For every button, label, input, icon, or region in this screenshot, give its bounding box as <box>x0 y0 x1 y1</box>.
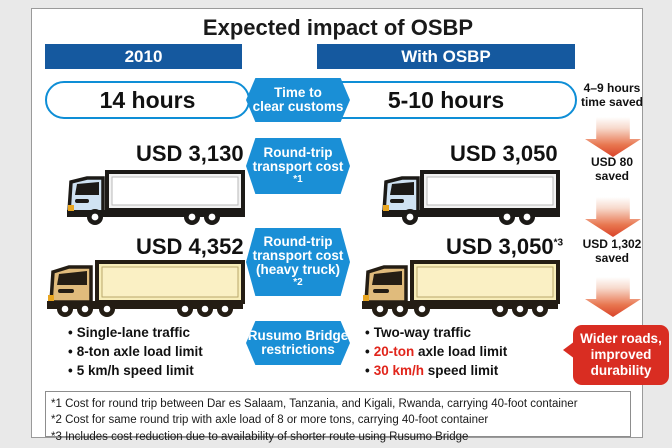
bridge-left-bullets: Single-lane traffic 8-ton axle load limi… <box>68 323 203 380</box>
transport-cost-right-value: USD 3,050 <box>450 141 558 167</box>
list-item-text: Two-way traffic <box>374 325 471 340</box>
row-label-heavy-truck-cost-footnote: *2 <box>293 277 302 289</box>
row-label-customs: Time to clear customs <box>246 78 350 122</box>
down-arrow-icon <box>585 117 641 157</box>
row-label-customs-line2: clear customs <box>253 100 344 114</box>
heavy-truck-cost-right-marker: *3 <box>554 238 563 249</box>
list-item-highlight: 30 km/h <box>374 363 424 378</box>
saving-customs-line1: 4–9 hours <box>568 81 656 95</box>
row-label-transport-cost-line1: Round-trip <box>264 146 333 160</box>
list-item: 20-ton axle load limit <box>365 342 507 361</box>
saving-transport-cost: USD 80 saved <box>568 155 656 184</box>
customs-right-value: 5-10 hours <box>315 81 577 119</box>
truck-icon <box>65 166 251 228</box>
list-item: Single-lane traffic <box>68 323 203 342</box>
column-header-with-osbp: With OSBP <box>317 44 575 69</box>
down-arrow-icon <box>585 197 641 237</box>
saving-customs: 4–9 hours time saved <box>568 81 656 110</box>
list-item: 30 km/h speed limit <box>365 361 507 380</box>
customs-left-value: 14 hours <box>45 81 250 119</box>
heavy-truck-cost-left-value: USD 4,352 <box>136 234 244 260</box>
footnote-3: *3 Includes cost reduction due to availa… <box>51 429 625 445</box>
heavy-truck-icon <box>360 258 566 320</box>
callout-line2: improved <box>591 347 652 363</box>
transport-cost-left-value: USD 3,130 <box>136 141 244 167</box>
row-label-bridge-line1: Rusumo Bridge <box>248 329 349 343</box>
row-label-heavy-truck-cost-line1: Round-trip <box>264 235 333 249</box>
row-label-bridge-restrictions: Rusumo Bridge restrictions <box>246 321 350 365</box>
callout-wider-roads: Wider roads, improved durability <box>573 325 669 385</box>
infographic-frame: Expected impact of OSBP 2010 With OSBP 1… <box>31 8 643 438</box>
row-label-transport-cost-footnote: *1 <box>293 174 302 186</box>
saving-heavy-truck-cost-line1: USD 1,302 <box>568 237 656 251</box>
saving-transport-cost-line1: USD 80 <box>568 155 656 169</box>
column-header-2010: 2010 <box>45 44 242 69</box>
row-label-heavy-truck-cost-line2: transport cost <box>253 249 344 263</box>
list-item-text: axle load limit <box>414 344 507 359</box>
saving-transport-cost-line2: saved <box>568 169 656 183</box>
row-label-transport-cost-line2: transport cost <box>253 160 344 174</box>
heavy-truck-cost-right-value-group: USD 3,050*3 <box>446 234 563 260</box>
list-item-highlight: 20-ton <box>374 344 415 359</box>
list-item-text: speed limit <box>424 363 498 378</box>
list-item: 8-ton axle load limit <box>68 342 203 361</box>
heavy-truck-icon <box>45 258 251 320</box>
row-label-customs-line1: Time to <box>274 86 322 100</box>
row-label-transport-cost: Round-trip transport cost *1 <box>246 138 350 194</box>
list-item: Two-way traffic <box>365 323 507 342</box>
row-label-heavy-truck-cost: Round-trip transport cost (heavy truck) … <box>246 228 350 296</box>
saving-heavy-truck-cost-line2: saved <box>568 251 656 265</box>
footnote-2: *2 Cost for same round trip with axle lo… <box>51 412 625 428</box>
callout-line3: durability <box>591 363 652 379</box>
down-arrow-icon <box>585 277 641 317</box>
bridge-right-bullets: Two-way traffic 20-ton axle load limit 3… <box>365 323 507 380</box>
page-title: Expected impact of OSBP <box>32 15 644 41</box>
list-item: 5 km/h speed limit <box>68 361 203 380</box>
row-label-heavy-truck-cost-line3: (heavy truck) <box>256 263 340 277</box>
callout-line1: Wider roads, <box>580 331 662 347</box>
saving-customs-line2: time saved <box>568 95 656 109</box>
truck-icon <box>380 166 566 228</box>
footnote-1: *1 Cost for round trip between Dar es Sa… <box>51 396 625 412</box>
heavy-truck-cost-right-value: USD 3,050 <box>446 234 554 259</box>
row-label-bridge-line2: restrictions <box>261 343 335 357</box>
footnotes: *1 Cost for round trip between Dar es Sa… <box>45 391 631 437</box>
saving-heavy-truck-cost: USD 1,302 saved <box>568 237 656 266</box>
